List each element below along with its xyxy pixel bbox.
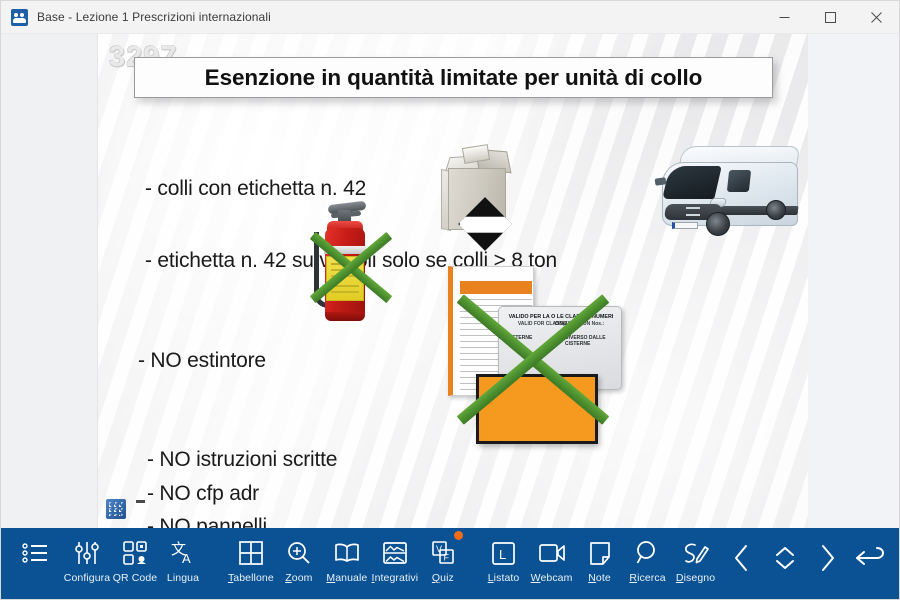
magnifier-plus-icon bbox=[287, 539, 311, 567]
svg-text:F: F bbox=[443, 553, 449, 563]
application-window: Base - Lezione 1 Prescrizioni internazio… bbox=[0, 0, 900, 600]
right-pane bbox=[806, 34, 899, 528]
toolbar-item-lingua[interactable]: 文 A Lingua bbox=[159, 528, 207, 599]
box-front bbox=[448, 168, 506, 230]
maximize-icon[interactable] bbox=[807, 1, 853, 33]
toolbar-item-integrativi[interactable]: Integrativi bbox=[371, 528, 419, 599]
toolbar-label-webcam: Webcam bbox=[531, 572, 573, 584]
fire-extinguisher-image bbox=[298, 192, 394, 332]
extinguisher-base bbox=[325, 312, 365, 321]
note-page-icon bbox=[589, 539, 611, 567]
van-rear-wheel bbox=[766, 200, 786, 220]
page-title: Esenzione in quantità limitate per unità… bbox=[205, 65, 703, 91]
toolbar-item-qrcode[interactable]: QR Code bbox=[111, 528, 159, 599]
slide-footer-dash bbox=[136, 500, 145, 503]
bullet-line-4: - NO istruzioni scritte bbox=[147, 448, 337, 472]
nav-updown-button[interactable] bbox=[763, 528, 806, 599]
extinguisher-band bbox=[324, 246, 366, 254]
grid-table-icon bbox=[239, 539, 263, 567]
van-windshield bbox=[662, 166, 722, 199]
toolbar-item-ricerca[interactable]: Ricerca bbox=[624, 528, 672, 599]
slide-footer-logo bbox=[106, 499, 126, 519]
bullet-line-6: - NO pannelli bbox=[147, 515, 267, 528]
van-license-plate bbox=[672, 222, 698, 229]
left-pane bbox=[1, 34, 98, 528]
van-brand-logo-icon bbox=[686, 207, 700, 216]
chevron-left-icon bbox=[731, 543, 751, 573]
nav-next-button[interactable] bbox=[806, 528, 849, 599]
certificate-line-2: VALID FOR CLASS(ES) OR UN Nos.: bbox=[507, 321, 615, 328]
certificate-column-right-head: DIVERSO DALLE CISTERNE bbox=[565, 335, 606, 347]
chevron-right-icon bbox=[818, 543, 838, 573]
toolbar-label-listato: Listato bbox=[488, 572, 520, 584]
nav-prev-button[interactable] bbox=[720, 528, 763, 599]
bottom-toolbar: Configura QR Code 文 A bbox=[1, 528, 899, 599]
toolbar-item-tabellone[interactable]: Tabellone bbox=[227, 528, 275, 599]
slide-title-box: Esenzione in quantità limitate per unità… bbox=[134, 57, 773, 98]
toolbar-label-disegno: Disegno bbox=[676, 572, 715, 584]
delivery-van-image bbox=[636, 134, 804, 264]
slide-canvas[interactable]: 3297 Esenzione in quantità limitate per … bbox=[98, 34, 808, 528]
adr-documents-image: VALIDO PER LA O LE CLASSI O NUMERI ONU V… bbox=[438, 262, 638, 452]
certificate-column-left-head: CISTERNE bbox=[507, 335, 532, 341]
orange-hazard-panel bbox=[476, 374, 598, 444]
svg-text:L: L bbox=[499, 547, 506, 562]
bullet-line-5: - NO cfp adr bbox=[147, 482, 259, 506]
limited-quantity-package-icon bbox=[441, 144, 521, 234]
nav-back-button[interactable] bbox=[850, 528, 893, 599]
workspace: 3297 Esenzione in quantità limitate per … bbox=[1, 34, 899, 528]
sliders-icon bbox=[74, 539, 100, 567]
title-bar: Base - Lezione 1 Prescrizioni internazio… bbox=[1, 1, 899, 34]
search-icon bbox=[636, 539, 660, 567]
video-camera-icon bbox=[539, 539, 565, 567]
certificate-column-left: CISTERNE bbox=[507, 335, 557, 341]
toolbar-item-webcam[interactable]: Webcam bbox=[528, 528, 576, 599]
limited-quantity-diamond-icon bbox=[458, 197, 512, 251]
qr-code-icon bbox=[123, 539, 147, 567]
certificate-column-right: DIVERSO DALLE CISTERNE bbox=[565, 335, 615, 348]
images-icon bbox=[383, 539, 407, 567]
draw-pen-icon bbox=[683, 539, 709, 567]
svg-text:V: V bbox=[436, 544, 442, 554]
bullet-line-3: - NO estintore bbox=[138, 349, 266, 373]
toolbar-label-configura: Configura bbox=[64, 572, 110, 584]
chevron-up-down-icon bbox=[772, 544, 798, 572]
window-title: Base - Lezione 1 Prescrizioni internazio… bbox=[37, 10, 271, 24]
close-icon[interactable] bbox=[853, 1, 899, 33]
translate-icon: 文 A bbox=[170, 539, 196, 567]
toolbar-item-note[interactable]: Note bbox=[576, 528, 624, 599]
document-header-bar bbox=[460, 281, 532, 294]
toolbar-item-quiz[interactable]: V F Quiz bbox=[419, 528, 467, 599]
toolbar-label-lingua: Lingua bbox=[167, 572, 199, 584]
toolbar-item-zoom[interactable]: Zoom bbox=[275, 528, 323, 599]
toolbar-label-note: Note bbox=[588, 572, 611, 584]
list-menu-icon bbox=[22, 539, 48, 567]
toolbar-label-zoom: Zoom bbox=[285, 572, 312, 584]
toolbar-item-configura[interactable]: Configura bbox=[63, 528, 111, 599]
toolbar-label-manuale: Manuale bbox=[326, 572, 367, 584]
toolbar-label-tabellone: Tabellone bbox=[228, 572, 274, 584]
van-side-window bbox=[727, 170, 751, 192]
toolbar-label-quiz: Quiz bbox=[432, 572, 454, 584]
van-front-wheel bbox=[706, 212, 730, 236]
quiz-vf-icon: V F bbox=[431, 539, 455, 567]
quiz-notification-badge bbox=[454, 531, 463, 540]
toolbar-label-qrcode: QR Code bbox=[113, 572, 157, 584]
listing-l-icon: L bbox=[492, 539, 515, 567]
return-arrow-icon bbox=[855, 545, 887, 571]
toolbar-item-listato[interactable]: L Listato bbox=[480, 528, 528, 599]
toolbar-item-disegno[interactable]: Disegno bbox=[672, 528, 720, 599]
toolbar-label-integrativi: Integrativi bbox=[372, 572, 419, 584]
open-book-icon bbox=[334, 539, 360, 567]
minimize-icon[interactable] bbox=[761, 1, 807, 33]
toolbar-item-manuale[interactable]: Manuale bbox=[323, 528, 371, 599]
van-skirt bbox=[719, 206, 798, 215]
toolbar-item-menu[interactable] bbox=[7, 528, 63, 599]
users-icon bbox=[11, 9, 28, 26]
svg-text:A: A bbox=[182, 551, 191, 566]
toolbar-label-ricerca: Ricerca bbox=[629, 572, 665, 584]
extinguisher-label bbox=[326, 256, 364, 301]
